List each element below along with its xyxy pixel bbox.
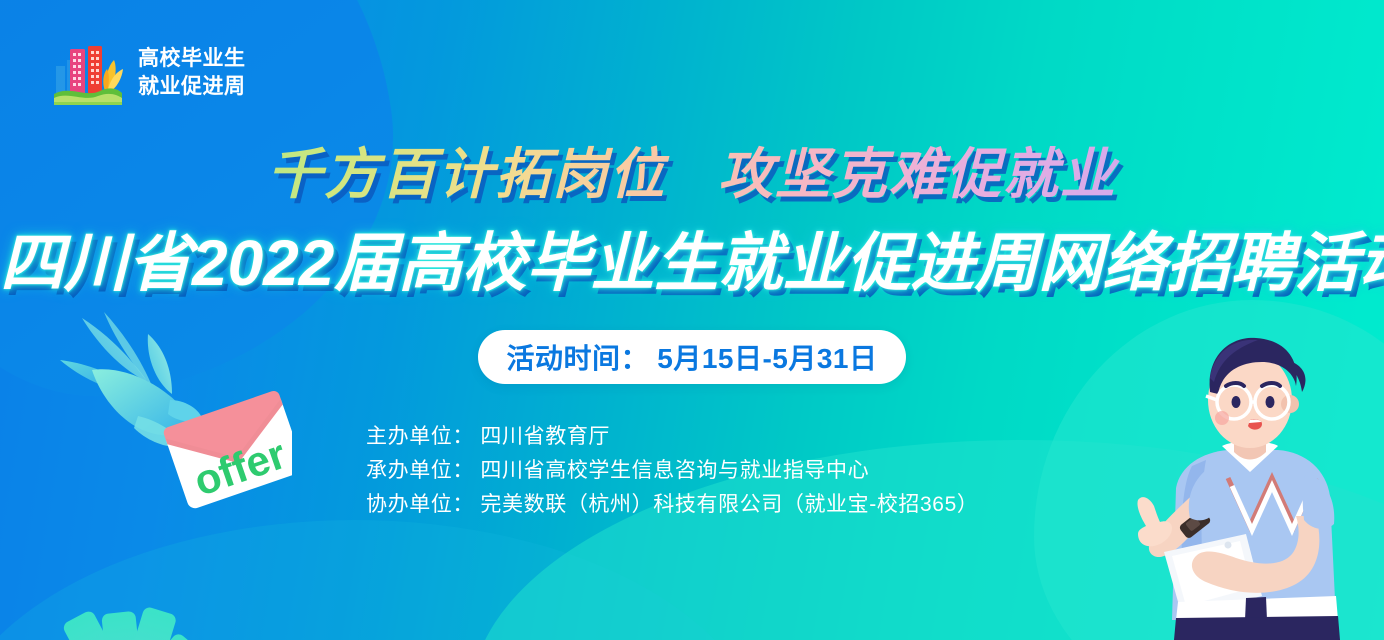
organizer-host: 主办单位： 四川省教育厅 — [366, 420, 978, 454]
organizer-list: 主办单位： 四川省教育厅 承办单位： 四川省高校学生信息咨询与就业指导中心 协办… — [366, 420, 978, 522]
graduate-employment-week-logo-icon — [48, 36, 126, 110]
student-with-tablet-pointing-up-icon — [1110, 320, 1378, 640]
page-title: 四川省2022届高校毕业生就业促进周网络招聘活动 — [0, 212, 1384, 304]
slogan: 千方百计拓岗位 攻坚克难促就业 — [0, 129, 1384, 209]
organizer-coorganizer: 协办单位： 完美数联（杭州）科技有限公司（就业宝-校招365） — [366, 488, 978, 522]
event-date-badge: 活动时间： 5月15日-5月31日 — [478, 330, 906, 384]
logo-text: 高校毕业生 就业促进周 — [138, 45, 246, 100]
event-date-text: 活动时间： 5月15日-5月31日 — [506, 337, 877, 377]
swallow-carrying-offer-envelope-icon: offer — [52, 308, 292, 518]
promotional-banner: 高校毕业生 就业促进周 千方百计拓岗位 攻坚克难促就业 四川省2022届高校毕业… — [0, 0, 1384, 640]
organizer-operator: 承办单位： 四川省高校学生信息咨询与就业指导中心 — [366, 454, 978, 488]
sunburst-decoration — [14, 546, 244, 640]
logo: 高校毕业生 就业促进周 — [48, 36, 246, 110]
